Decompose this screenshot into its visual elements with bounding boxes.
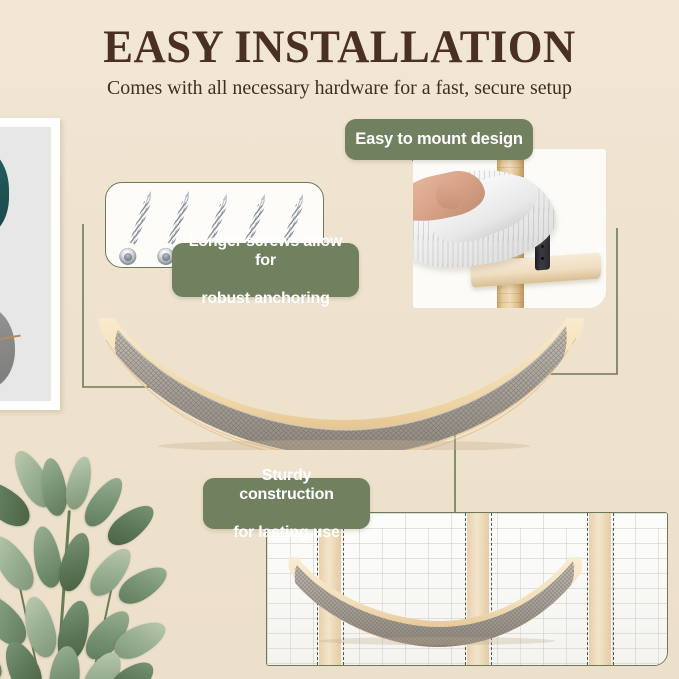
badge-sturdy-construction-label: Sturdy construction for lasting use bbox=[203, 466, 370, 542]
stud-marker-line bbox=[587, 513, 588, 665]
badge-sturdy-line1: Sturdy construction bbox=[211, 466, 362, 504]
product-shadow bbox=[158, 440, 530, 450]
product-hammock-mounted bbox=[287, 557, 587, 651]
badge-easy-to-mount-label: Easy to mount design bbox=[347, 130, 530, 149]
header: EASY INSTALLATION Comes with all necessa… bbox=[0, 0, 679, 100]
grey-leaf-shape bbox=[0, 305, 15, 389]
screw-icon bbox=[121, 193, 154, 264]
badge-easy-to-mount[interactable]: Easy to mount design bbox=[345, 119, 533, 160]
badge-longer-screws-line2: robust anchoring bbox=[180, 289, 351, 308]
page-title: EASY INSTALLATION bbox=[17, 0, 662, 72]
teal-leaf-shape bbox=[0, 149, 9, 235]
badge-longer-screws-line1: Longer screws allow for bbox=[180, 232, 351, 270]
houseplant bbox=[0, 440, 208, 679]
art-mat bbox=[0, 127, 51, 401]
badge-longer-screws-label: Longer screws allow for robust anchoring bbox=[172, 232, 359, 308]
stud-marker-line bbox=[613, 513, 614, 665]
wall-stud bbox=[589, 513, 611, 665]
mounting-photo-panel bbox=[413, 149, 606, 308]
framed-wall-art bbox=[0, 118, 60, 410]
infographic-canvas: EASY INSTALLATION Comes with all necessa… bbox=[0, 0, 679, 679]
page-subtitle: Comes with all necessary hardware for a … bbox=[10, 76, 669, 100]
badge-sturdy-line2: for lasting use bbox=[211, 523, 362, 542]
product-hammock-main bbox=[96, 318, 586, 450]
badge-longer-screws[interactable]: Longer screws allow for robust anchoring bbox=[172, 243, 359, 297]
badge-sturdy-construction[interactable]: Sturdy construction for lasting use bbox=[203, 478, 370, 529]
thumb bbox=[434, 176, 466, 211]
mounted-product-shadow bbox=[319, 637, 555, 645]
plant-leaf bbox=[38, 457, 70, 518]
mounted-mesh-fabric bbox=[287, 557, 587, 651]
